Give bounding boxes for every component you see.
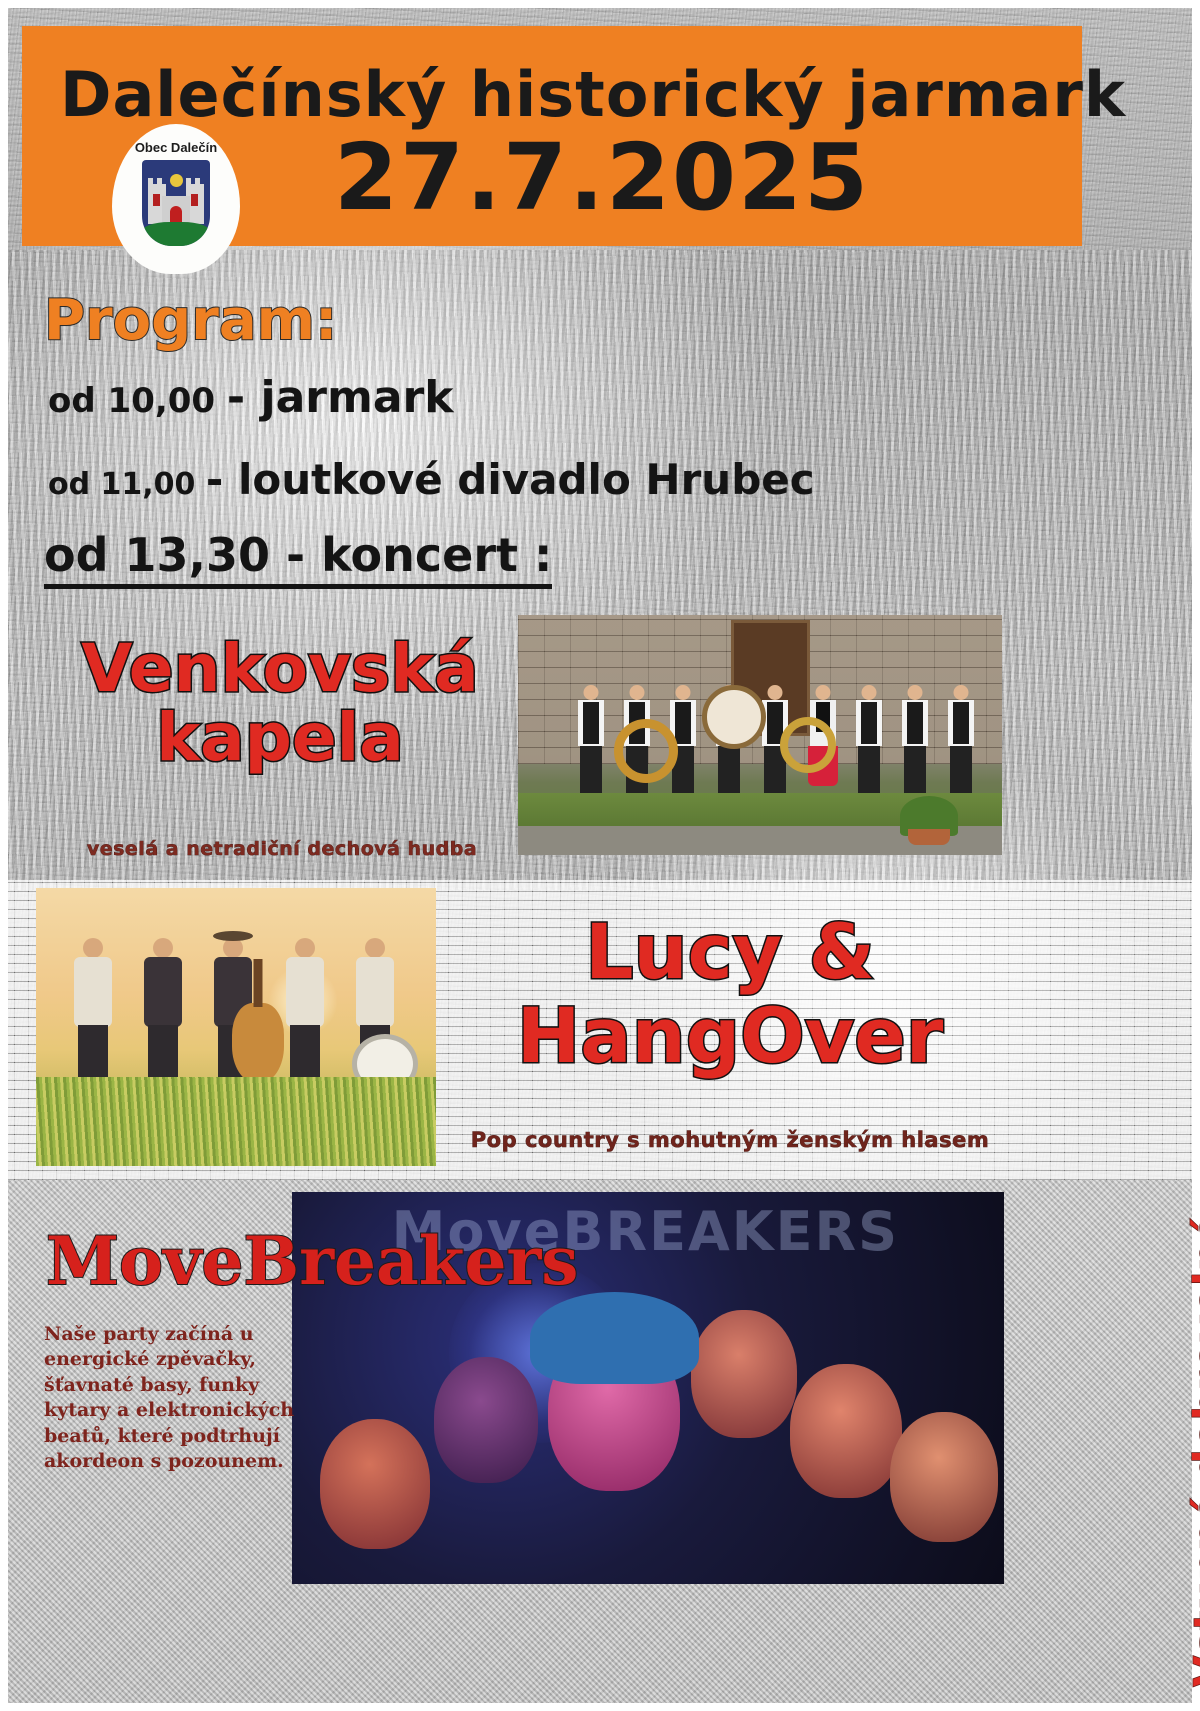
event-poster: Dalečínský historický jarmark 27.7.2025 …	[0, 0, 1200, 1711]
admission-note: Vstupné dobrovolné	[1186, 1213, 1200, 1686]
act-name-movebreakers: MoveBreakers	[46, 1222, 578, 1300]
act-description-movebreakers: Naše party začíná u energické zpěvačky, …	[44, 1322, 314, 1475]
